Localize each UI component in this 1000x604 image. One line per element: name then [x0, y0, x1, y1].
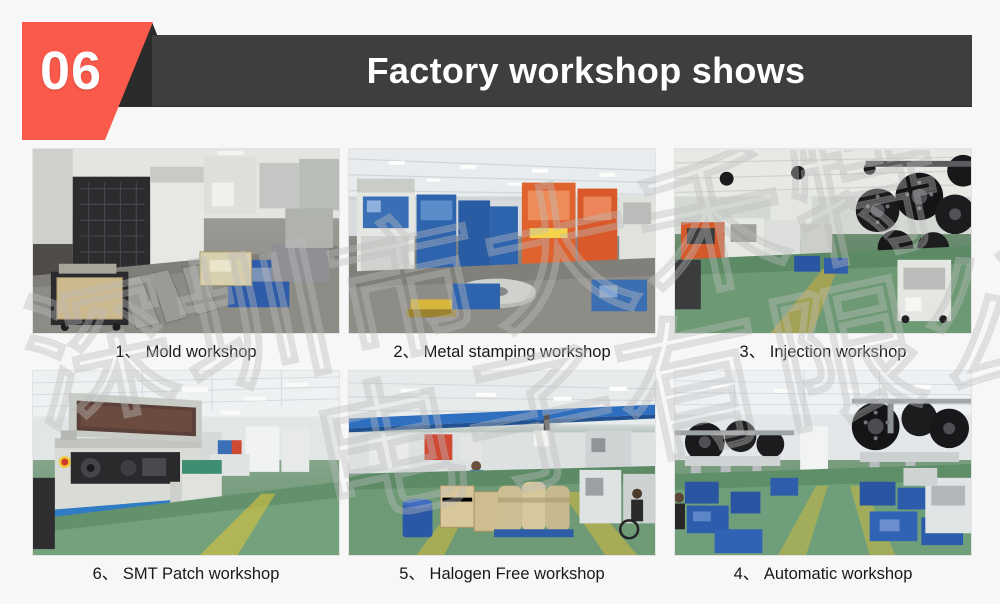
caption-mold-workshop: 1、 Mold workshop — [32, 334, 340, 370]
workshop-gallery: 1、 Mold workshop — [0, 148, 1000, 604]
metal-stamping-workshop-photo[interactable] — [348, 148, 656, 334]
section-number: 06 — [40, 44, 150, 98]
halogen-free-workshop-art — [349, 371, 655, 555]
gallery-cell-halogen-free-workshop[interactable]: 5、 Halogen Free workshop — [348, 370, 656, 592]
gallery-cell-automatic-workshop[interactable]: 4、 Automatic workshop — [674, 370, 972, 592]
metal-stamping-workshop-art — [349, 149, 655, 333]
caption-injection-workshop: 3、 Injection workshop — [674, 334, 972, 370]
caption-halogen-free-workshop: 5、 Halogen Free workshop — [348, 556, 656, 592]
gallery-row: 1、 Mold workshop — [0, 148, 1000, 370]
smt-patch-workshop-art — [33, 371, 339, 555]
mold-workshop-art — [33, 149, 339, 333]
automatic-workshop-art — [675, 371, 971, 555]
smt-patch-workshop-photo[interactable] — [32, 370, 340, 556]
gallery-cell-mold-workshop[interactable]: 1、 Mold workshop — [32, 148, 340, 370]
automatic-workshop-photo[interactable] — [674, 370, 972, 556]
gallery-row: 6、 SMT Patch workshop — [0, 370, 1000, 592]
header-banner: 06 Factory workshop shows — [0, 0, 1000, 150]
gallery-cell-smt-patch-workshop[interactable]: 6、 SMT Patch workshop — [32, 370, 340, 592]
injection-workshop-art — [675, 149, 971, 333]
caption-smt-patch-workshop: 6、 SMT Patch workshop — [32, 556, 340, 592]
caption-metal-stamping-workshop: 2、 Metal stamping workshop — [348, 334, 656, 370]
caption-automatic-workshop: 4、 Automatic workshop — [674, 556, 972, 592]
gallery-cell-injection-workshop[interactable]: 3、 Injection workshop — [674, 148, 972, 370]
slide-root: 06 Factory workshop shows — [0, 0, 1000, 604]
injection-workshop-photo[interactable] — [674, 148, 972, 334]
mold-workshop-photo[interactable] — [32, 148, 340, 334]
halogen-free-workshop-photo[interactable] — [348, 370, 656, 556]
gallery-cell-metal-stamping-workshop[interactable]: 2、 Metal stamping workshop — [348, 148, 656, 370]
page-title: Factory workshop shows — [200, 35, 972, 107]
